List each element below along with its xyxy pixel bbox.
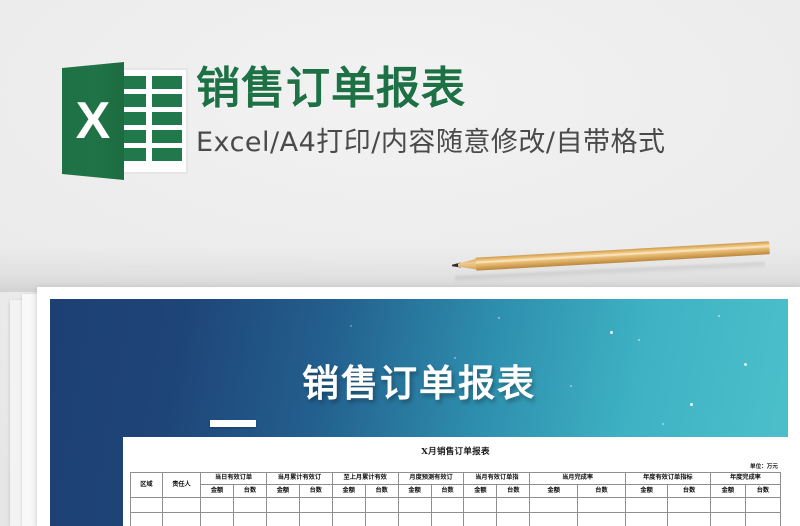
table-cell[interactable] xyxy=(201,513,234,526)
col-header-region: 区域 xyxy=(131,473,163,498)
sub-header-amount: 金额 xyxy=(530,485,578,498)
table-cell[interactable] xyxy=(365,498,398,513)
table-cell[interactable] xyxy=(668,498,710,513)
sub-header-units: 台数 xyxy=(299,485,332,498)
table-cell[interactable] xyxy=(530,498,578,513)
report-document[interactable]: X月销售订单报表 单位：万元 xyxy=(123,437,788,526)
table-cell[interactable] xyxy=(530,513,578,526)
table-cell[interactable] xyxy=(201,498,234,513)
table-cell[interactable] xyxy=(299,498,332,513)
sub-header-units: 台数 xyxy=(668,485,710,498)
col-group-month-cumulative: 当月累计有效订 xyxy=(266,473,332,485)
table-cell[interactable] xyxy=(668,513,710,526)
sub-header-amount: 金额 xyxy=(625,485,667,498)
table-cell[interactable] xyxy=(578,498,626,513)
col-group-year-target: 年度有效订单指标 xyxy=(625,473,710,485)
sub-header-units: 台数 xyxy=(431,485,464,498)
col-header-owner: 责任人 xyxy=(162,473,200,498)
header-band: X 销售订单报表 Excel/A4打印/内容随意修改/自带格式 xyxy=(0,52,800,190)
table-row[interactable] xyxy=(131,498,781,513)
table-cell[interactable] xyxy=(162,513,200,526)
table-head: 区域 责任人 当日有效订单 当月累计有效订 至上月累计有效 月度预测有效订 当月… xyxy=(131,473,781,498)
table-cell[interactable] xyxy=(332,498,365,513)
col-group-prev-month-cumulative: 至上月累计有效 xyxy=(332,473,398,485)
col-group-monthly-forecast: 月度预测有效订 xyxy=(398,473,464,485)
sub-header-units: 台数 xyxy=(497,485,530,498)
col-group-month-completion-rate: 当月完成率 xyxy=(530,473,626,485)
table-cell[interactable] xyxy=(625,513,667,526)
report-table[interactable]: 区域 责任人 当日有效订单 当月累计有效订 至上月累计有效 月度预测有效订 当月… xyxy=(130,472,781,526)
table-cell[interactable] xyxy=(710,513,745,526)
sub-header-units: 台数 xyxy=(365,485,398,498)
col-group-month-target: 当月有效订单指 xyxy=(464,473,530,485)
document-title: X月销售订单报表 xyxy=(123,437,788,457)
col-group-daily-valid-orders: 当日有效订单 xyxy=(201,473,267,485)
table-cell[interactable] xyxy=(299,513,332,526)
sub-header-amount: 金额 xyxy=(266,485,299,498)
page-title: 销售订单报表 xyxy=(196,64,776,114)
excel-logo-letter: X xyxy=(62,62,124,180)
table-row[interactable] xyxy=(131,513,781,526)
table-cell[interactable] xyxy=(398,498,431,513)
table-cell[interactable] xyxy=(625,498,667,513)
table-cell[interactable] xyxy=(464,498,497,513)
sub-header-amount: 金额 xyxy=(332,485,365,498)
table-cell[interactable] xyxy=(131,513,163,526)
sub-header-units: 台数 xyxy=(578,485,626,498)
table-cell[interactable] xyxy=(710,498,745,513)
table-cell[interactable] xyxy=(431,498,464,513)
unit-note: 单位：万元 xyxy=(123,457,788,472)
table-cell[interactable] xyxy=(497,498,530,513)
table-cell[interactable] xyxy=(431,513,464,526)
preview-card[interactable]: 销售订单报表 X月销售订单报表 单位：万元 xyxy=(37,287,800,526)
table-cell[interactable] xyxy=(497,513,530,526)
poster-canvas: X 销售订单报表 Excel/A4打印/内容随意修改/自带格式 xyxy=(0,0,800,526)
header-text-block: 销售订单报表 Excel/A4打印/内容随意修改/自带格式 xyxy=(196,64,776,160)
sub-header-amount: 金额 xyxy=(398,485,431,498)
sub-header-units: 台数 xyxy=(234,485,267,498)
sub-header-units: 台数 xyxy=(745,485,780,498)
table-cell[interactable] xyxy=(162,498,200,513)
table-cell[interactable] xyxy=(234,498,267,513)
excel-logo: X xyxy=(62,62,188,180)
table-cell[interactable] xyxy=(234,513,267,526)
table-cell[interactable] xyxy=(464,513,497,526)
table-cell[interactable] xyxy=(745,498,780,513)
table-body[interactable] xyxy=(131,498,781,526)
sub-header-amount: 金额 xyxy=(201,485,234,498)
col-group-year-completion-rate: 年度完成率 xyxy=(710,473,780,485)
table-group-header-row: 区域 责任人 当日有效订单 当月累计有效订 至上月累计有效 月度预测有效订 当月… xyxy=(131,473,781,485)
sub-header-amount: 金额 xyxy=(710,485,745,498)
sub-header-amount: 金额 xyxy=(464,485,497,498)
table-cell[interactable] xyxy=(365,513,398,526)
table-cell[interactable] xyxy=(745,513,780,526)
table-sub-header-row: 金额 台数 金额 台数 金额 台数 金额 台数 金额 台数 金额 xyxy=(131,485,781,498)
slide-title: 销售订单报表 xyxy=(50,353,788,407)
table-cell[interactable] xyxy=(332,513,365,526)
table-cell[interactable] xyxy=(131,498,163,513)
accent-dash xyxy=(210,420,256,427)
table-cell[interactable] xyxy=(266,513,299,526)
table-cell[interactable] xyxy=(398,513,431,526)
page-subtitle: Excel/A4打印/内容随意修改/自带格式 xyxy=(196,126,776,160)
slide-cover: 销售订单报表 X月销售订单报表 单位：万元 xyxy=(50,299,788,526)
table-cell[interactable] xyxy=(578,513,626,526)
table-cell[interactable] xyxy=(266,498,299,513)
